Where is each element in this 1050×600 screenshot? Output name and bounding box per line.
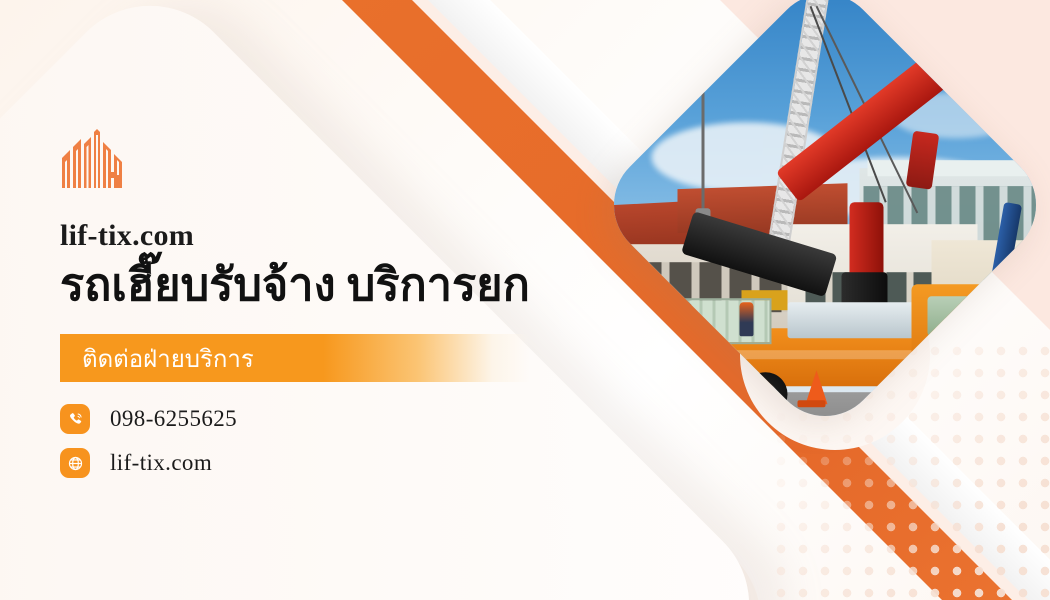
building-crane-logo — [60, 128, 128, 190]
cta-label: ติดต่อฝ่ายบริการ — [82, 339, 254, 378]
truck-bed-stripe — [650, 350, 930, 359]
truck-wheel — [678, 372, 722, 416]
phone-number: 098-6255625 — [110, 406, 237, 432]
phone-icon — [60, 404, 90, 434]
content-column: lif-tix.com รถเฮี๊ยบรับจ้าง บริการยก ติด… — [60, 128, 680, 492]
brand-name: lif-tix.com — [60, 219, 680, 253]
crane-hoist-line — [702, 60, 705, 210]
traffic-cone-base — [798, 400, 826, 407]
contact-service-button[interactable]: ติดต่อฝ่ายบริการ — [60, 334, 530, 382]
contact-phone-row[interactable]: 098-6255625 — [60, 404, 680, 434]
globe-icon — [60, 448, 90, 478]
contact-website-row[interactable]: lif-tix.com — [60, 448, 680, 478]
website-url: lif-tix.com — [110, 450, 212, 476]
promo-banner: lif-tix.com รถเฮี๊ยบรับจ้าง บริการยก ติด… — [0, 0, 1050, 600]
traffic-cone — [806, 370, 828, 404]
page-title: รถเฮี๊ยบรับจ้าง บริการยก — [60, 259, 680, 312]
cargo-load — [788, 302, 918, 338]
worker-figure — [740, 302, 754, 336]
contact-list: 098-6255625 lif-tix.com — [60, 404, 680, 478]
cab-window — [928, 296, 990, 336]
